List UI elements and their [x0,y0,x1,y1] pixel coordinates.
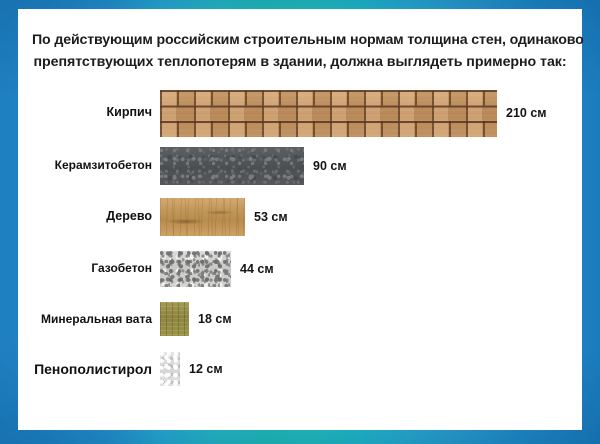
bar-category-label: Газобетон [18,262,160,275]
chart-row: Газобетон 44 см [18,243,582,294]
bar-brick [160,90,497,137]
bar-value-label: 53 см [254,210,288,224]
chart-row: Дерево 53 см [18,191,582,243]
bar-value-label: 210 см [506,106,547,120]
page-title: По действующим российским строительным н… [18,9,582,73]
bar-category-label: Керамзитобетон [18,159,160,172]
bar-category-label: Дерево [18,210,160,223]
bar-value-label: 44 см [240,262,274,276]
bar-mineral-wool [160,302,189,336]
bar-category-label: Кирпич [18,106,160,119]
bar-expanded-clay-concrete [160,147,304,185]
bar-aerated-concrete [160,251,231,287]
bar-value-label: 90 см [313,159,347,173]
poster-canvas: По действующим российским строительным н… [18,9,582,430]
chart-row: Кирпич 210 см [18,86,582,140]
bar-value-label: 18 см [198,312,232,326]
wall-thickness-bar-chart: Кирпич 210 см Керамзитобетон 90 см Дерев… [18,86,582,394]
bar-value-label: 12 см [189,362,223,376]
title-line-1: По действующим российским строительным н… [32,29,568,51]
chart-row: Керамзитобетон 90 см [18,140,582,191]
bar-wood [160,198,245,236]
title-line-2: препятствующих теплопотерям в здании, до… [32,51,568,73]
bar-polystyrene-foam [160,352,180,386]
poster-frame: По действующим российским строительным н… [0,0,600,444]
chart-row: Пенополистирол 12 см [18,344,582,394]
bar-category-label: Минеральная вата [18,313,160,326]
chart-row: Минеральная вата 18 см [18,294,582,344]
bar-category-label: Пенополистирол [18,362,160,377]
